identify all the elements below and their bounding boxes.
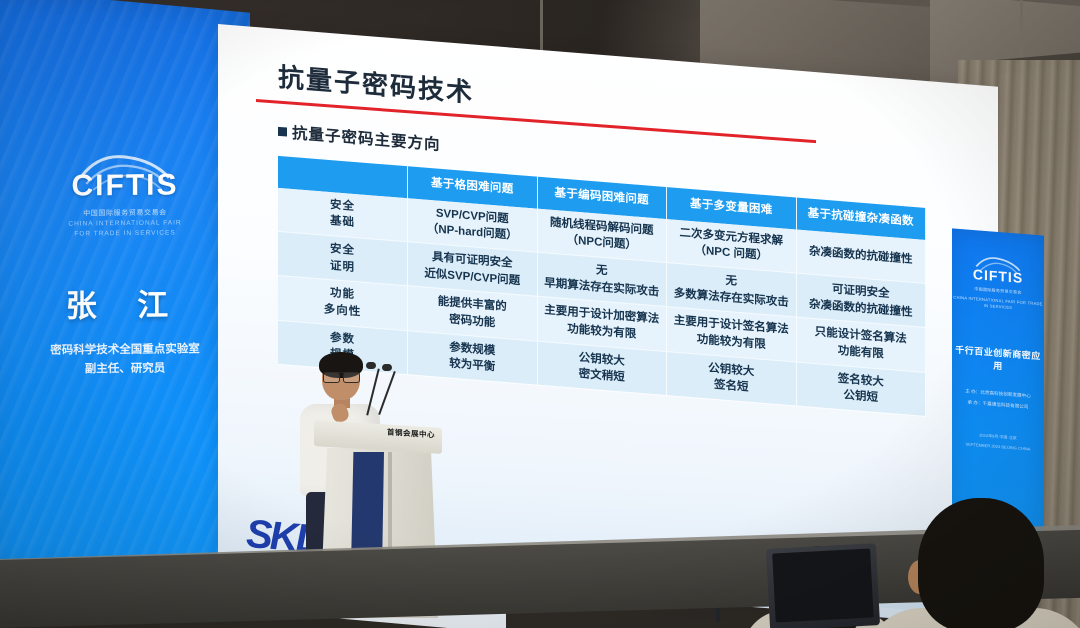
microphone-head-left-icon <box>366 362 376 369</box>
speaker-affiliation-line1: 密码科学技术全国重点实验室 <box>0 340 250 362</box>
right-org-en: CHINA INTERNATIONAL FAIR FOR TRADE IN SE… <box>952 294 1044 313</box>
speaker-name: 张 江 <box>0 279 250 327</box>
slide-subtitle-text: 抗量子密码主要方向 <box>292 125 441 154</box>
confidence-monitor-screen <box>772 548 873 622</box>
cell-multivariate-parameter: 公钥较大 签名短 <box>667 351 797 406</box>
ciftis-en-line2: FOR TRADE IN SERVICES <box>0 227 250 239</box>
confidence-monitor <box>766 543 880 628</box>
right-banner-content: CIFTIS 中国国际服务贸易交易会 CHINA INTERNATIONAL F… <box>952 228 1044 541</box>
cell-code-parameter: 公钥较大 密文稍短 <box>537 341 667 396</box>
speaker-affiliation-line2: 副主任、研究员 <box>0 359 250 381</box>
presenter-glasses-left-icon <box>323 372 340 383</box>
cell-hash-parameter: 签名较大 公钥短 <box>796 362 926 417</box>
square-bullet-icon <box>278 126 287 136</box>
ciftis-swoosh-icon <box>972 253 1024 279</box>
presenter-glasses-right-icon <box>343 372 360 383</box>
ciftis-swoosh-icon <box>71 149 179 194</box>
microphone-head-right-icon <box>382 364 392 371</box>
cell-line: 杂凑函数的抗碰撞性 <box>799 243 924 270</box>
right-banner-slogan: 千行百业创新商密应用 <box>952 342 1044 375</box>
audience-head-right <box>918 498 1044 628</box>
cell-lattice-parameter: 参数规模 较为平衡 <box>408 330 538 385</box>
conference-room-scene: CIFTIS 中国国际服务贸易交易会 CHINA INTERNATIONAL F… <box>0 0 1080 628</box>
right-led-banner: CIFTIS 中国国际服务贸易交易会 CHINA INTERNATIONAL F… <box>952 228 1044 541</box>
left-banner-content: CIFTIS 中国国际服务贸易交易会 CHINA INTERNATIONAL F… <box>0 149 250 381</box>
